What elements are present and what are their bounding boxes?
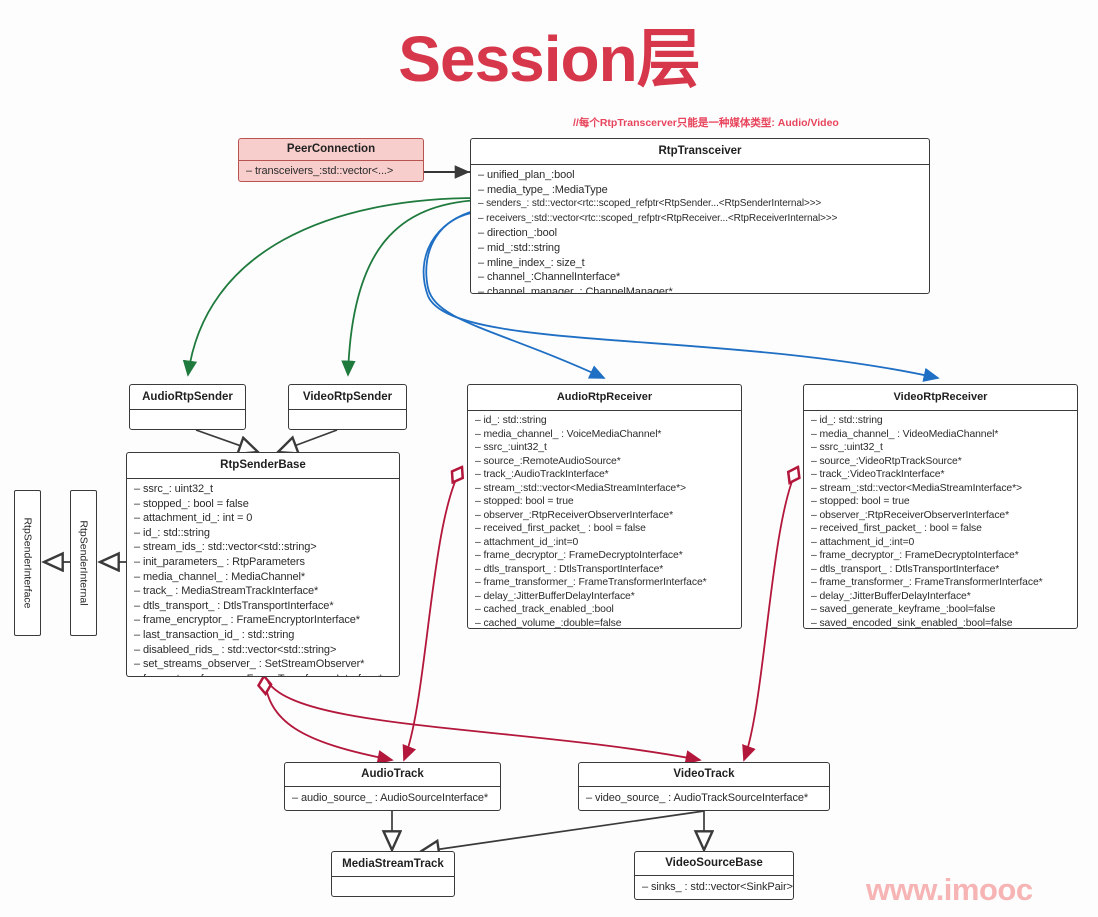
attribute: – stopped: bool = true (811, 495, 1070, 509)
attribute: – mline_index_: size_t (478, 256, 922, 271)
attribute: – transceivers_:std::vector<...> (246, 164, 416, 179)
attribute: – observer_:RtpReceiverObserverInterface… (811, 509, 1070, 523)
class-audiotrack-title: AudioTrack (285, 763, 500, 787)
attribute: – media_channel_ : VideoMediaChannel* (811, 428, 1070, 442)
class-rtptransceiver-title: RtpTransceiver (471, 139, 929, 165)
class-audiortpsender[interactable]: AudioRtpSender (129, 384, 246, 430)
edge-rtpsenderbase-to-audiotrack (264, 676, 392, 760)
attribute: – attachment_id_: int = 0 (134, 511, 392, 526)
attribute: – dtls_transport_ : DtlsTransportInterfa… (811, 563, 1070, 577)
class-audiortpsender-attributes (130, 410, 245, 417)
attribute: – direction_:bool (478, 226, 922, 241)
class-audiortpsender-title: AudioRtpSender (130, 385, 245, 410)
class-videosourcebase-title: VideoSourceBase (635, 852, 793, 876)
edge-videortpreceiver-to-videotrack (744, 467, 798, 760)
class-videotrack-title: VideoTrack (579, 763, 829, 787)
attribute: – frame_decryptor_: FrameDecryptoInterfa… (475, 549, 734, 563)
attribute: – disableed_rids_ : std::vector<std::str… (134, 643, 392, 658)
class-peerconnection-title: PeerConnection (239, 139, 423, 161)
attribute: – init_parameters_ : RtpParameters (134, 555, 392, 570)
site-watermark: www.imooc (866, 872, 1033, 908)
class-audiortpreceiver-title: AudioRtpReceiver (468, 385, 741, 411)
attribute: – video_source_ : AudioTrackSourceInterf… (586, 791, 822, 806)
attribute: – id_: std::string (134, 526, 392, 541)
attribute: – senders_: std::vector<rtc::scoped_refp… (478, 197, 922, 212)
attribute: – frame_transformer_: FrameTransformerIn… (475, 576, 734, 590)
edge-senders-to-audiortpsender (188, 198, 478, 375)
class-videosourcebase-attributes: – sinks_ : std::vector<SinkPair> (635, 876, 793, 899)
attribute: – mid_:std::string (478, 241, 922, 256)
edge-audiortpsender-inherits-rtpsenderbase (196, 430, 258, 452)
class-videortpsender-attributes (289, 410, 406, 417)
class-audiotrack-attributes: – audio_source_ : AudioSourceInterface* (285, 787, 500, 810)
class-videortpreceiver[interactable]: VideoRtpReceiver – id_: std::string – me… (803, 384, 1078, 629)
attribute: – receivers_:std::vector<rtc::scoped_ref… (478, 212, 922, 227)
attribute: – cached_volume_:double=false (475, 617, 734, 630)
attribute: – track_ : MediaStreamTrackInterface* (134, 584, 392, 599)
class-videortpreceiver-title: VideoRtpReceiver (804, 385, 1077, 411)
attribute: – saved_generate_keyframe_:bool=false (811, 603, 1070, 617)
attribute: – audio_source_ : AudioSourceInterface* (292, 791, 493, 806)
attribute: – cached_track_enabled_:bool (475, 603, 734, 617)
class-videosourcebase[interactable]: VideoSourceBase – sinks_ : std::vector<S… (634, 851, 794, 900)
edge-videotrack-inherits-mediastreamtrack (420, 811, 704, 852)
class-rtpsenderbase-title: RtpSenderBase (127, 453, 399, 479)
class-rtpsenderinternal[interactable]: RtpSenderInternal (70, 490, 97, 636)
class-rtptransceiver[interactable]: RtpTransceiver – unified_plan_:bool – me… (470, 138, 930, 294)
class-audiotrack[interactable]: AudioTrack – audio_source_ : AudioSource… (284, 762, 501, 811)
attribute: – received_first_packet_ : bool = false (475, 522, 734, 536)
attribute: – delay_:JitterBufferDelayInterface* (475, 590, 734, 604)
class-rtpsenderinterface-title: RtpSenderInterface (22, 517, 34, 608)
attribute: – ssrc_:uint32_t (475, 441, 734, 455)
attribute: – track_:AudioTrackInterface* (475, 468, 734, 482)
class-peerconnection-attributes: – transceivers_:std::vector<...> (239, 161, 423, 182)
class-mediastreamtrack[interactable]: MediaStreamTrack (331, 851, 455, 897)
edge-senders-to-videortpsender (348, 200, 478, 375)
class-mediastreamtrack-title: MediaStreamTrack (332, 852, 454, 877)
attribute: – sinks_ : std::vector<SinkPair> (642, 880, 786, 895)
class-rtptransceiver-attributes: – unified_plan_:bool – media_type_ :Medi… (471, 165, 929, 294)
class-rtpsenderbase-attributes: – ssrc_: uint32_t – stopped_: bool = fal… (127, 479, 399, 677)
attribute: – channel_manager_: ChannelManager* (478, 285, 922, 294)
page-title: Session层 (0, 8, 1098, 100)
attribute: – frame_decryptor_: FrameDecryptoInterfa… (811, 549, 1070, 563)
attribute: – unified_plan_:bool (478, 168, 922, 183)
diagram-canvas: Session层 //每个RtpTranscerver只能是一种媒体类型: Au… (0, 0, 1098, 917)
class-videortpreceiver-attributes: – id_: std::string – media_channel_ : Vi… (804, 411, 1077, 629)
attribute: – attachment_id_:int=0 (811, 536, 1070, 550)
attribute: – stream_ids_: std::vector<std::string> (134, 540, 392, 555)
class-peerconnection[interactable]: PeerConnection – transceivers_:std::vect… (238, 138, 424, 182)
class-audiortpreceiver[interactable]: AudioRtpReceiver – id_: std::string – me… (467, 384, 742, 629)
attribute: – media_type_ :MediaType (478, 183, 922, 198)
attribute: – delay_:JitterBufferDelayInterface* (811, 590, 1070, 604)
attribute: – stream_:std::vector<MediaStreamInterfa… (811, 482, 1070, 496)
media-type-comment: //每个RtpTranscerver只能是一种媒体类型: Audio/Video (573, 115, 839, 130)
attribute: – saved_encoded_sink_enabled_:bool=false (811, 617, 1070, 630)
attribute: – id_: std::string (811, 414, 1070, 428)
attribute: – set_streams_observer_ : SetStreamObser… (134, 657, 392, 672)
attribute: – last_transaction_id_ : std::string (134, 628, 392, 643)
class-audiortpreceiver-attributes: – id_: std::string – media_channel_ : Vo… (468, 411, 741, 629)
attribute: – media_channel_ : MediaChannel* (134, 570, 392, 585)
attribute: – channel_:ChannelInterface* (478, 270, 922, 285)
class-rtpsenderbase[interactable]: RtpSenderBase – ssrc_: uint32_t – stoppe… (126, 452, 400, 677)
class-videortpsender-title: VideoRtpSender (289, 385, 406, 410)
attribute: – dtls_transport_ : DtlsTransportInterfa… (134, 599, 392, 614)
attribute: – media_channel_ : VoiceMediaChannel* (475, 428, 734, 442)
class-rtpsenderinternal-title: RtpSenderInternal (78, 520, 90, 605)
edge-rtpsenderbase-to-videotrack (268, 682, 700, 760)
attribute: – frame_encryptor_ : FrameEncryptorInter… (134, 613, 392, 628)
attribute: – frame_transformer_ : FrameTransformerI… (134, 672, 392, 677)
attribute: – attachment_id_:int=0 (475, 536, 734, 550)
class-videotrack[interactable]: VideoTrack – video_source_ : AudioTrackS… (578, 762, 830, 811)
attribute: – id_: std::string (475, 414, 734, 428)
class-videortpsender[interactable]: VideoRtpSender (288, 384, 407, 430)
class-mediastreamtrack-attributes (332, 877, 454, 884)
edge-videortpsender-inherits-rtpsenderbase (278, 430, 337, 452)
attribute: – observer_:RtpReceiverObserverInterface… (475, 509, 734, 523)
attribute: – frame_transformer_: FrameTransformerIn… (811, 576, 1070, 590)
attribute: – stream_:std::vector<MediaStreamInterfa… (475, 482, 734, 496)
edge-audiortpreceiver-to-audiotrack (404, 467, 462, 760)
attribute: – received_first_packet_ : bool = false (811, 522, 1070, 536)
attribute: – stopped: bool = true (475, 495, 734, 509)
attribute: – source_:RemoteAudioSource* (475, 455, 734, 469)
attribute: – ssrc_: uint32_t (134, 482, 392, 497)
attribute: – stopped_: bool = false (134, 497, 392, 512)
attribute: – track_:VideoTrackInterface* (811, 468, 1070, 482)
attribute: – source_:VideoRtpTrackSource* (811, 455, 1070, 469)
class-videotrack-attributes: – video_source_ : AudioTrackSourceInterf… (579, 787, 829, 810)
class-rtpsenderinterface[interactable]: RtpSenderInterface (14, 490, 41, 636)
attribute: – ssrc_:uint32_t (811, 441, 1070, 455)
attribute: – dtls_transport_ : DtlsTransportInterfa… (475, 563, 734, 577)
